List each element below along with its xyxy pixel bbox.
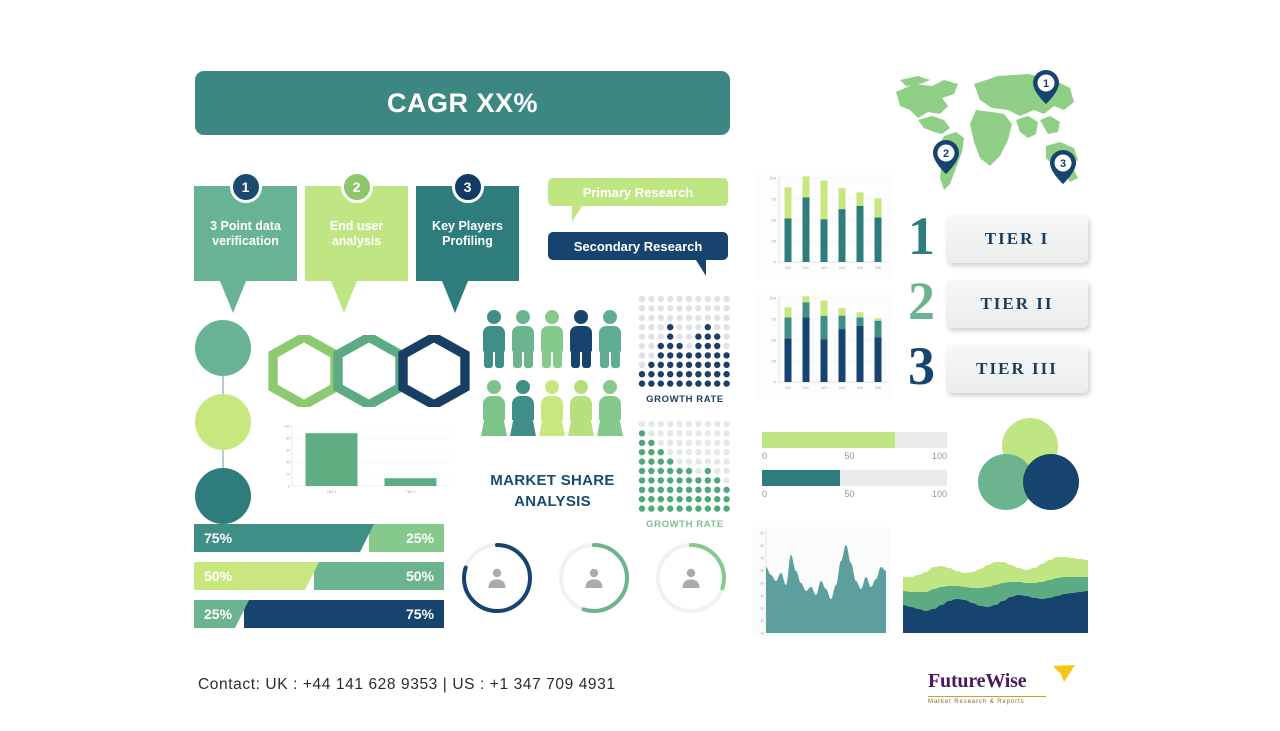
infographic-canvas: CAGR XX% 1 3 Point data verification 2 E… [0,0,1280,731]
progress-slider-2-fill [762,470,840,486]
area-chart-ytick: 70 [760,557,764,561]
area-chart-ytick: 20 [760,619,764,623]
mini-bar-chart: 100806040200 Title 1Title 2 [260,420,455,500]
dot-matrix-navy-label: GROWTH RATE [637,394,733,405]
map-pin-3-number: 3 [1050,153,1076,175]
map-pin-2-number: 2 [933,143,959,165]
people-pictogram [482,310,622,438]
sc-top-ytick: 25 [772,239,777,244]
map-pin-1-number: 1 [1033,73,1059,95]
mini-ytick: 80 [286,437,290,441]
primary-research-tail [572,206,582,222]
sc-bot-xtick: W1 [785,386,790,390]
futurewise-logo[interactable]: FutureWise Market Research & Reports [928,670,1063,705]
arrow-bar-2-right: 50% [314,562,444,590]
map-pin-2[interactable]: 2 [933,140,959,174]
cagr-banner-title: CAGR XX% [387,88,538,119]
step-card-2-label: End user analysis [309,219,404,249]
slider-1-mid: 50 [844,451,854,461]
person-icon-female [511,380,535,438]
progress-slider-2-scale: 0 50 100 [762,489,947,499]
area-chart-ytick: 90 [760,532,764,536]
progress-slider-2-track[interactable] [762,470,947,486]
person-icon-male [598,310,622,368]
mini-ytick: 60 [286,449,290,453]
sc-bot-ytick: 75 [772,317,777,322]
person-icon-male [482,310,506,368]
sc-bot-xtick: W6 [875,386,880,390]
person-icon-female [482,380,506,438]
venn-circle-3 [1023,454,1079,510]
sc-top-ytick: 75 [772,197,777,202]
arrow-bar-3-left-label: 25% [204,606,232,622]
step-card-2-badge: 2 [341,171,373,203]
sc-bot-xtick: W3 [821,386,826,390]
map-pin-3[interactable]: 3 [1050,150,1076,184]
mini-ytick: 40 [286,461,290,465]
tier-2-number: 2 [908,274,935,328]
secondary-research-bubble[interactable]: Secondary Research [548,232,728,276]
mini-ytick: 100 [284,425,290,429]
area-chart-ytick: 60 [760,569,764,573]
progress-slider-1-scale: 0 50 100 [762,451,947,461]
tier-1-plate[interactable]: TIER I [946,215,1088,263]
arrow-bar-row-3: 75% 25% [194,600,444,628]
arrow-bar-row-1: 25% 75% [194,524,444,552]
circle-stack [195,320,251,500]
person-icon-female [540,380,564,438]
sc-top-xtick: W2 [803,266,808,270]
sc-bot-ytick: 100 [769,296,776,301]
mini-xtick: Title 1 [327,490,337,494]
sc-top-xtick: W4 [839,266,844,270]
donut-ring-2 [556,540,632,616]
progress-slider-1[interactable]: 0 50 100 [762,432,947,461]
sc-bot-xtick: W5 [857,386,862,390]
donut-ring-1 [459,540,535,616]
slider-2-max: 100 [932,489,947,499]
sc-top-ytick: 50 [772,218,777,223]
arrow-bar-2-right-label: 50% [406,568,434,584]
sc-top-xtick: W3 [821,266,826,270]
tier-2-plate[interactable]: TIER II [946,280,1088,328]
progress-slider-2[interactable]: 0 50 100 [762,470,947,499]
hexagon-outline-2 [333,335,405,407]
person-icon-2 [582,566,606,590]
venn-diagram [978,418,1083,513]
stacked-bar-chart-top: 1007550250 W1W2W3W4W5W6 [755,170,893,280]
step-card-3-tail [442,281,468,313]
sc-bot-xtick: W2 [803,386,808,390]
sc-top-xtick: W6 [875,266,880,270]
slider-2-min: 0 [762,489,767,499]
sc-bot-xtick: W4 [839,386,844,390]
area-chart-teal: 908070605040302010 [752,527,890,637]
hexagon-outline-3 [398,335,470,407]
arrow-bar-1-right-label: 25% [406,530,434,546]
stack-circle-1 [195,320,251,376]
tier-3-label: TIER III [976,359,1058,379]
arrow-icon [1051,664,1077,684]
step-card-2-body: 2 End user analysis [305,186,408,281]
logo-tagline: Market Research & Reports [928,699,1063,705]
dot-matrix-growth-rate-navy: GROWTH RATE [637,294,733,390]
step-card-2-tail [331,281,357,313]
stack-circle-2 [195,394,251,450]
person-icon-3 [679,566,703,590]
step-card-3[interactable]: 3 Key Players Profiling [416,186,519,313]
circle-connector-1 [222,376,224,394]
tier-row-3[interactable]: 3 TIER III [908,345,1088,395]
tier-row-2[interactable]: 2 TIER II [908,280,1088,330]
dot-matrix-growth-rate-green: GROWTH RATE [637,419,733,515]
arrow-bar-3-right: 75% [244,600,444,628]
sc-bot-ytick: 50 [772,338,777,343]
donut-ring-3 [653,540,729,616]
tier-1-number: 1 [908,209,935,263]
arrow-bar-2-left-label: 50% [204,568,232,584]
slider-2-mid: 50 [844,489,854,499]
sc-top-ytick: 100 [769,176,776,181]
sc-top-xtick: W5 [857,266,862,270]
mini-ytick: 20 [286,473,290,477]
step-card-2[interactable]: 2 End user analysis [305,186,408,313]
people-row-women [482,380,622,438]
step-card-1[interactable]: 1 3 Point data verification [194,186,297,313]
arrow-bar-2-left: 50% [194,562,319,590]
mini-bar-chart-x-ticks: Title 1Title 2 [327,490,416,494]
step-card-1-body: 1 3 Point data verification [194,186,297,281]
area-chart-ytick: 50 [760,582,764,586]
tier-3-plate[interactable]: TIER III [946,345,1088,393]
mini-xtick: Title 2 [406,490,416,494]
circle-connector-2 [222,450,224,468]
secondary-research-tail [696,260,706,276]
progress-slider-1-track[interactable] [762,432,947,448]
progress-slider-1-fill [762,432,895,448]
step-card-3-body: 3 Key Players Profiling [416,186,519,281]
arrow-bar-1-right: 25% [369,524,444,552]
area-chart-ytick: 30 [760,607,764,611]
sc-top-xtick: W1 [785,266,790,270]
world-map: 1 2 3 [888,62,1088,202]
person-icon-male [540,310,564,368]
stacked-bar-chart-bottom: 1007550250 W1W2W3W4W5W6 [755,290,893,400]
market-share-analysis-title: MARKET SHARE ANALYSIS [470,470,635,512]
mini-bar-chart-y-ticks: 100806040200 [284,425,290,489]
dot-matrix-green-label: GROWTH RATE [637,519,733,530]
arrow-bar-row-2: 50% 50% [194,562,444,590]
primary-research-bubble[interactable]: Primary Research [548,178,728,222]
tier-1-label: TIER I [985,229,1049,249]
stack-circle-3 [195,468,251,524]
primary-research-label: Primary Research [548,178,728,206]
tier-2-label: TIER II [980,294,1053,314]
secondary-research-label: Secondary Research [548,232,728,260]
step-card-1-badge: 1 [230,171,262,203]
slider-1-min: 0 [762,451,767,461]
tier-row-1[interactable]: 1 TIER I [908,215,1088,265]
area-chart-ytick: 10 [760,632,764,636]
arrow-bar-1-left: 75% [194,524,374,552]
arrow-bar-1-left-label: 75% [204,530,232,546]
slider-1-max: 100 [932,451,947,461]
person-icon-1 [485,566,509,590]
tier-3-number: 3 [908,339,935,393]
arrow-bar-3-right-label: 75% [406,606,434,622]
map-pin-1[interactable]: 1 [1033,70,1059,104]
step-card-3-badge: 3 [452,171,484,203]
arrow-bar-3-left: 25% [194,600,249,628]
step-card-1-tail [220,281,246,313]
step-card-3-label: Key Players Profiling [420,219,515,249]
logo-wordmark: FutureWise [928,670,1026,692]
mini-bar-chart-bars [306,433,437,486]
area-chart-ytick: 40 [760,594,764,598]
person-icon-female [598,380,622,438]
logo-divider [928,696,1046,697]
hexagon-outline-1 [268,335,340,407]
sc-bot-ytick: 25 [772,359,777,364]
wave-chart-stacked [903,533,1088,633]
cagr-banner: CAGR XX% [195,71,730,135]
area-chart-ytick: 80 [760,544,764,548]
contact-line: Contact: UK : +44 141 628 9353 | US : +1… [198,676,616,694]
person-icon-male [569,310,593,368]
step-card-1-label: 3 Point data verification [198,219,293,249]
person-icon-male [511,310,535,368]
mini-ytick: 0 [288,485,290,489]
person-icon-female [569,380,593,438]
people-row-men [482,310,622,368]
